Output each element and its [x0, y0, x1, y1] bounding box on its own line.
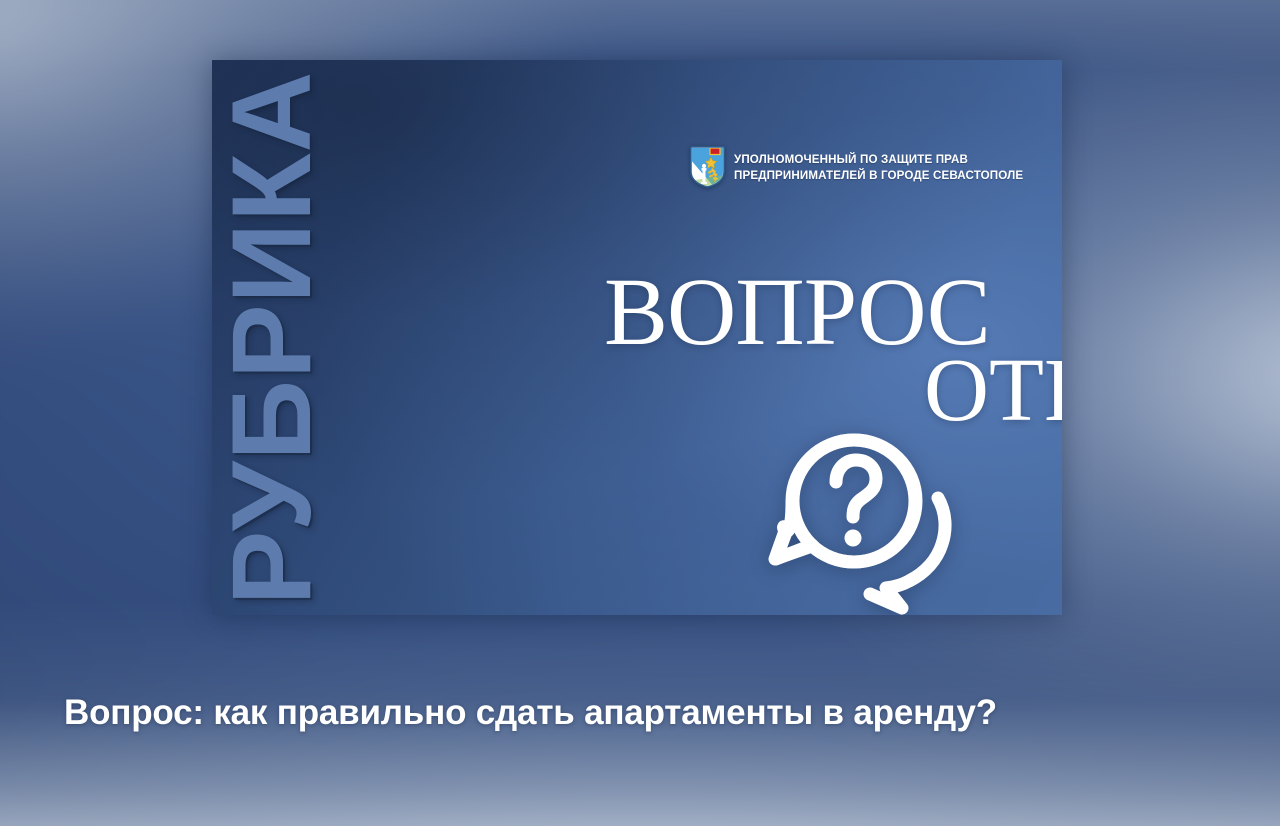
brand-name-block: УПОЛНОМОЧЕННЫЙ ПО ЗАЩИТЕ ПРАВ ПРЕДПРИНИМ… [734, 152, 1038, 183]
rubric-wordmark: РУБРИКА [212, 60, 332, 615]
brand-line-2: ПРЕДПРИНИМАТЕЛЕЙ В ГОРОДЕ СЕВАСТОПОЛЕ [734, 168, 1023, 182]
headline-otvet: ОТВЕТ [924, 348, 1062, 434]
sevastopol-coat-of-arms-icon [690, 146, 725, 188]
brand-line-1: УПОЛНОМОЧЕННЫЙ ПО ЗАЩИТЕ ПРАВ [734, 152, 1023, 166]
rubric-label: РУБРИКА [216, 70, 328, 605]
question-speech-bubbles-icon [742, 428, 956, 615]
caption-text: Вопрос: как правильно сдать апартаменты … [64, 692, 1244, 733]
poster-card: РУБРИКА [212, 60, 1062, 615]
brand-header: УПОЛНОМОЧЕННЫЙ ПО ЗАЩИТЕ ПРАВ ПРЕДПРИНИМ… [690, 146, 1038, 188]
poster-screenshot: РУБРИКА [0, 0, 1280, 826]
